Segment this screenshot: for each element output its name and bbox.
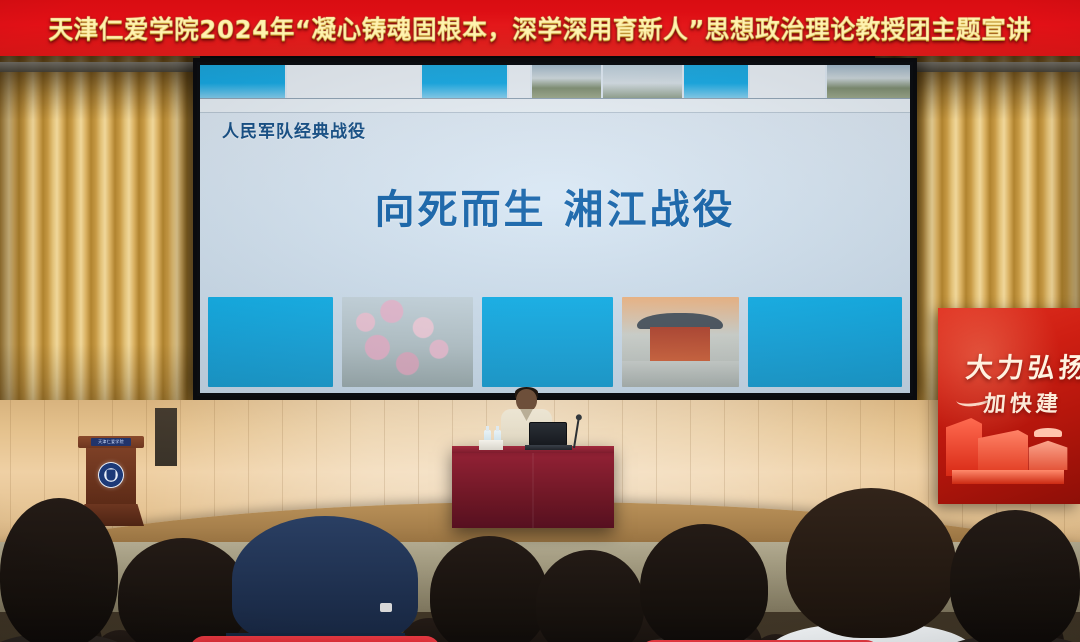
audience-area <box>0 526 1080 642</box>
standee-graphic-block <box>946 418 982 476</box>
slide-photo-tile <box>532 65 601 98</box>
audience-member-head <box>118 538 248 642</box>
laptop-screen <box>529 422 567 446</box>
audience-member-head <box>0 498 118 642</box>
slide-kicker-text: 人民军队经典战役 <box>222 117 366 142</box>
laptop-base <box>525 445 572 450</box>
tablecloth-fold <box>532 453 534 528</box>
slide-photo-tile <box>482 297 613 387</box>
lectern-top: 天津仁爱学院 <box>78 436 144 448</box>
standee-line-2: 加快建 <box>983 386 1064 418</box>
slide-photo-tile <box>422 65 507 98</box>
pavilion-deck <box>622 361 739 387</box>
slide-photo-tile <box>287 65 420 98</box>
event-title-banner: 天津仁爱学院2024年“凝心铸魂固根本，深学深用育新人”思想政治理论教授团主题宣… <box>0 0 1080 56</box>
speaker-table <box>452 446 614 528</box>
slide-photo-tile <box>342 297 473 387</box>
slide-top-photo-strip <box>200 65 910 99</box>
event-title-text: 天津仁爱学院2024年“凝心铸魂固根本，深学深用育新人”思想政治理论教授团主题宣… <box>49 10 1032 46</box>
audience-member-head <box>640 524 768 642</box>
auditorium-scene: 人民军队经典战役 向死而生 湘江战役 <box>0 56 1080 642</box>
slide-photo-tile <box>684 65 748 98</box>
slide-photo-tile <box>509 65 530 98</box>
stage-curtain-left <box>0 56 200 456</box>
audience-member-head <box>232 516 418 642</box>
slide-photo-tile <box>208 297 333 387</box>
slide-bottom-photo-strip <box>200 297 910 393</box>
standee-line-1: 大力弘扬 <box>964 346 1080 385</box>
slide-title-text: 向死而生 湘江战役 <box>200 177 910 235</box>
tiananmen-roof-icon <box>1034 428 1062 437</box>
lectern-nameplate-text: 天津仁爱学院 <box>91 438 131 446</box>
projection-screen-frame: 人民军队经典战役 向死而生 湘江战役 <box>193 58 917 400</box>
red-slogan-standee: 大力弘扬 加快建 <box>938 308 1080 504</box>
slide-photo-tile <box>603 65 682 98</box>
pavilion-body <box>650 327 710 361</box>
slide-photo-tile <box>748 297 902 387</box>
lecture-hall-photo: 天津仁爱学院2024年“凝心铸魂固根本，深学深用育新人”思想政治理论教授团主题宣… <box>0 0 1080 642</box>
cap-logo-tag <box>380 603 392 612</box>
document-box <box>479 440 503 450</box>
audience-member-head <box>786 488 956 638</box>
projection-screen: 人民军队经典战役 向死而生 湘江战役 <box>200 65 910 393</box>
slide-top-divider <box>200 99 910 113</box>
audience-member-head <box>950 510 1080 642</box>
standee-graphic-base <box>952 470 1064 484</box>
university-seal-icon <box>98 462 124 488</box>
audience-member-head <box>536 550 644 642</box>
slide-photo-tile <box>750 65 825 98</box>
slide-photo-tile <box>200 65 285 98</box>
slide-photo-tile <box>827 65 910 98</box>
auditorium-seat <box>190 636 440 642</box>
lectern-nameplate: 天津仁爱学院 <box>91 438 131 446</box>
side-chair <box>155 408 177 466</box>
curtain-rail-left <box>0 62 200 72</box>
slide-photo-tile <box>622 297 739 387</box>
audience-member-head <box>430 536 548 642</box>
